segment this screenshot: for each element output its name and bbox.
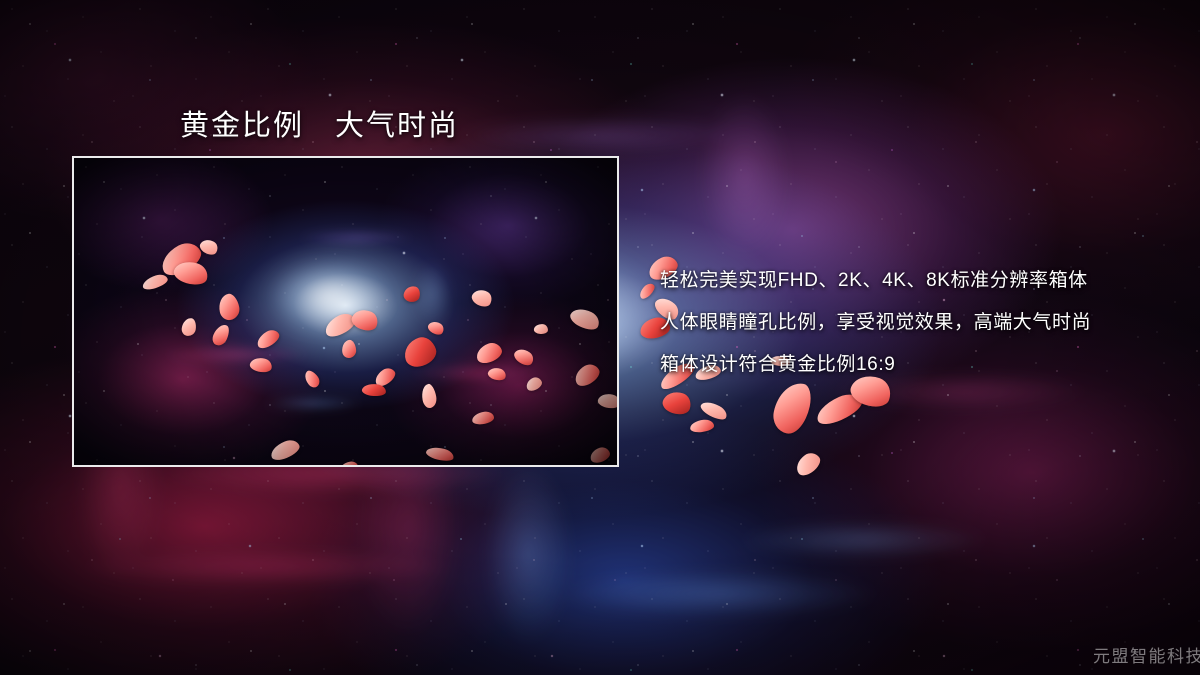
nebula-image-panel — [72, 156, 619, 467]
petal — [792, 449, 824, 479]
page-title: 黄金比例 大气时尚 — [180, 102, 459, 144]
petal — [813, 389, 866, 429]
petal — [637, 281, 657, 301]
description-text-block: 轻松完美实现FHD、2K、4K、8K标准分辨率箱体 人体眼睛瞳孔比例，享受视觉效… — [660, 260, 1160, 386]
description-line-2: 人体眼睛瞳孔比例，享受视觉效果，高端大气时尚 — [660, 302, 1160, 344]
petal — [770, 379, 814, 437]
description-line-1: 轻松完美实现FHD、2K、4K、8K标准分辨率箱体 — [660, 260, 1160, 302]
watermark: 元盟智能科技 — [1093, 642, 1200, 667]
petal — [689, 419, 714, 433]
panel-vignette — [74, 158, 617, 465]
description-line-3: 箱体设计符合黄金比例16:9 — [660, 344, 1160, 386]
petal — [660, 388, 693, 418]
petal — [699, 398, 730, 423]
presentation-slide: 黄金比例 大气时尚 — [0, 0, 1200, 675]
